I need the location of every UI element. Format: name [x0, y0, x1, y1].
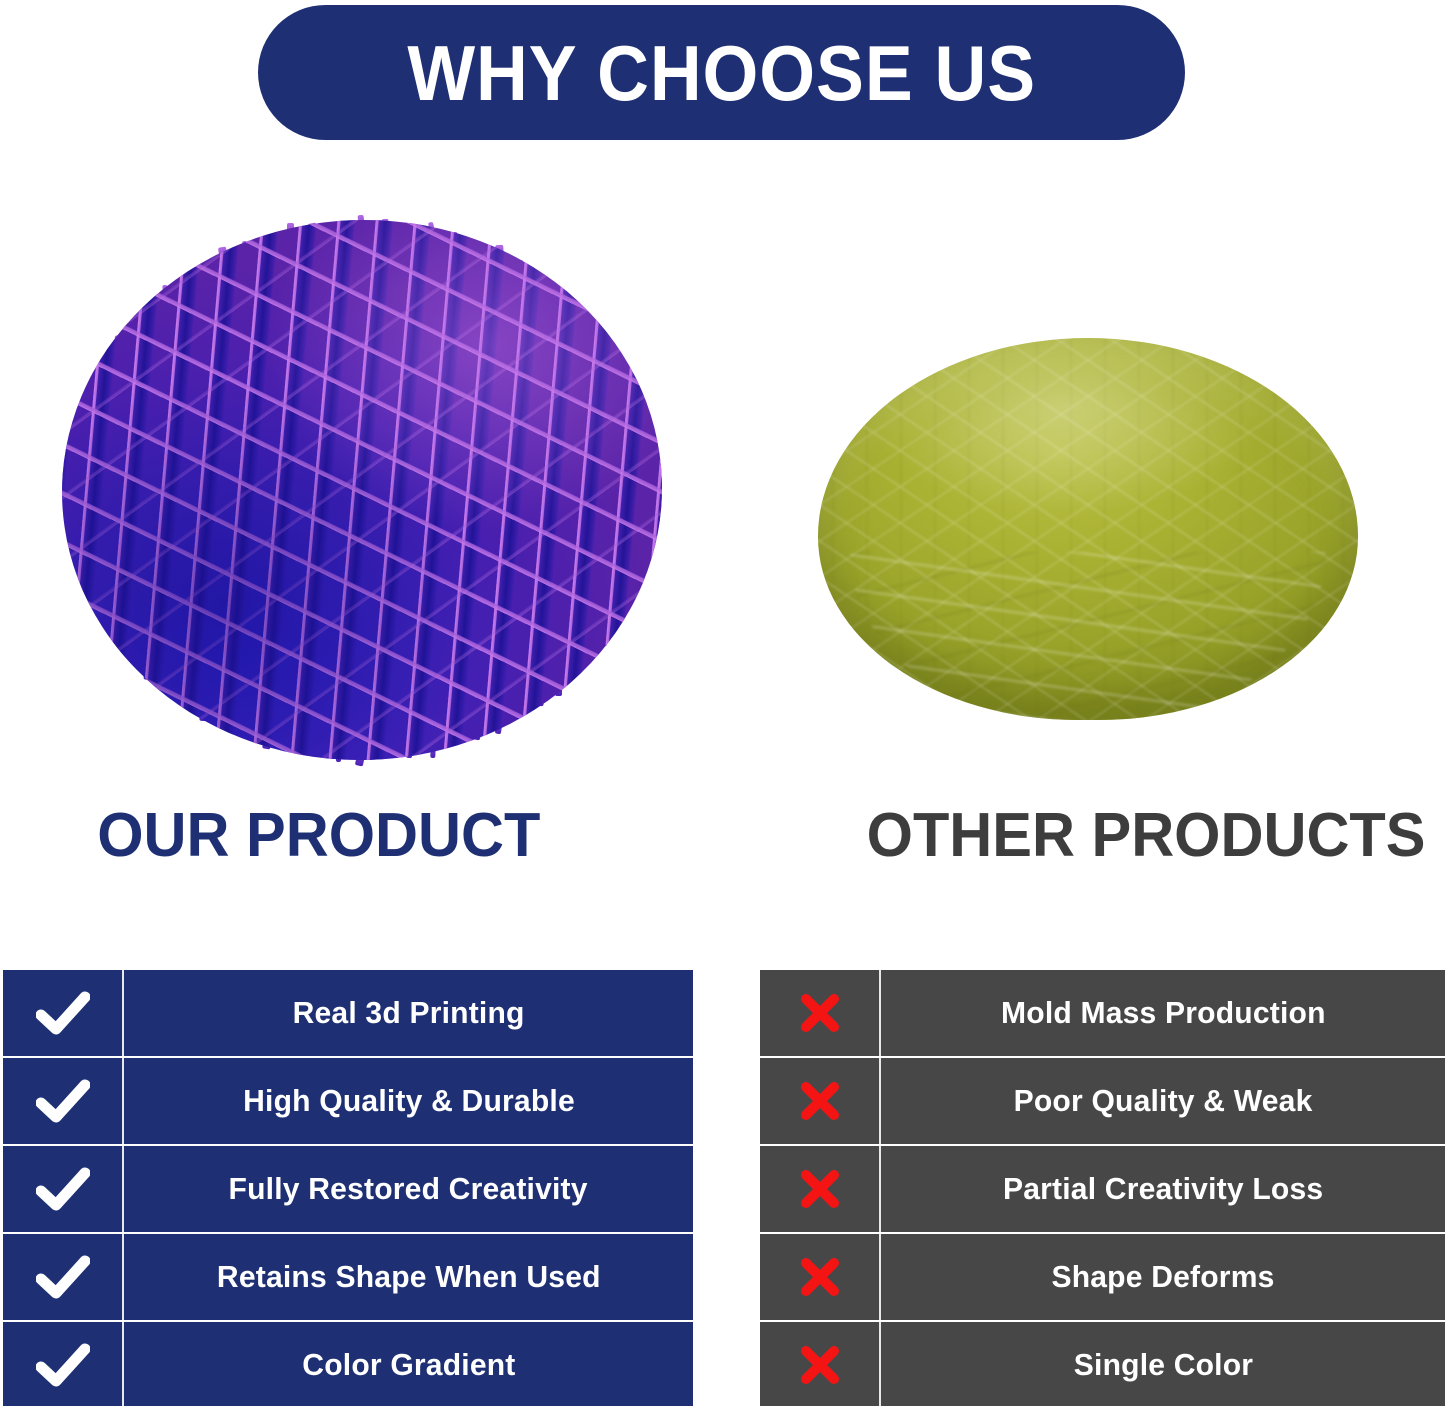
table-row: Mold Mass Production: [760, 970, 1445, 1056]
our-product-caption: OUR PRODUCT: [97, 805, 540, 867]
check-icon-cell: [3, 1234, 124, 1320]
feature-label-cell: Partial Creativity Loss: [881, 1146, 1445, 1232]
check-icon-cell: [3, 1322, 124, 1406]
lattice-disc: [53, 210, 671, 771]
table-row: Fully Restored Creativity: [3, 1146, 693, 1232]
check-icon: [36, 1254, 90, 1300]
olive-gloss-highlight: [818, 338, 1358, 720]
feature-label: Single Color: [1073, 1347, 1252, 1383]
check-icon-cell: [3, 970, 124, 1056]
feature-label-cell: Real 3d Printing: [124, 970, 693, 1056]
olive-disc: [818, 338, 1358, 720]
cross-icon-cell: [760, 1058, 881, 1144]
other-product-caption: OTHER PRODUCTS: [867, 805, 1426, 867]
page-title: WHY CHOOSE US: [407, 34, 1036, 112]
feature-label: Real 3d Printing: [292, 995, 524, 1031]
header-banner: WHY CHOOSE US: [258, 5, 1185, 140]
feature-label-cell: Poor Quality & Weak: [881, 1058, 1445, 1144]
cross-icon-cell: [760, 1146, 881, 1232]
check-icon: [36, 1078, 90, 1124]
table-row: Shape Deforms: [760, 1234, 1445, 1320]
other-product-feature-table: Mold Mass ProductionPoor Quality & WeakP…: [760, 970, 1445, 1406]
feature-label-cell: Mold Mass Production: [881, 970, 1445, 1056]
table-row: Poor Quality & Weak: [760, 1058, 1445, 1144]
table-row: Partial Creativity Loss: [760, 1146, 1445, 1232]
cross-icon: [799, 1080, 841, 1122]
feature-label: Retains Shape When Used: [217, 1259, 601, 1295]
cross-icon-cell: [760, 1322, 881, 1406]
cross-icon: [799, 992, 841, 1034]
cross-icon-cell: [760, 1234, 881, 1320]
feature-label: Partial Creativity Loss: [1003, 1171, 1323, 1207]
cross-icon: [799, 1168, 841, 1210]
our-product-feature-table: Real 3d PrintingHigh Quality & DurableFu…: [3, 970, 693, 1406]
feature-label: High Quality & Durable: [243, 1083, 575, 1119]
feature-label-cell: High Quality & Durable: [124, 1058, 693, 1144]
check-icon-cell: [3, 1058, 124, 1144]
feature-label-cell: Color Gradient: [124, 1322, 693, 1406]
check-icon: [36, 990, 90, 1036]
check-icon-cell: [3, 1146, 124, 1232]
feature-label: Shape Deforms: [1051, 1259, 1274, 1295]
table-row: Single Color: [760, 1322, 1445, 1406]
feature-label-cell: Single Color: [881, 1322, 1445, 1406]
our-product-cell: [0, 170, 720, 810]
feature-label-cell: Fully Restored Creativity: [124, 1146, 693, 1232]
check-icon: [36, 1166, 90, 1212]
feature-label: Poor Quality & Weak: [1014, 1083, 1313, 1119]
table-row: Retains Shape When Used: [3, 1234, 693, 1320]
feature-label-cell: Shape Deforms: [881, 1234, 1445, 1320]
other-product-cell: [720, 170, 1445, 810]
feature-label: Mold Mass Production: [1001, 995, 1326, 1031]
feature-label-cell: Retains Shape When Used: [124, 1234, 693, 1320]
feature-label: Color Gradient: [302, 1347, 515, 1383]
our-product-image: [62, 220, 662, 760]
cross-icon-cell: [760, 970, 881, 1056]
table-row: Real 3d Printing: [3, 970, 693, 1056]
product-images-row: [0, 170, 1445, 810]
other-product-image: [818, 338, 1358, 720]
cross-icon: [799, 1344, 841, 1386]
table-row: Color Gradient: [3, 1322, 693, 1406]
table-row: High Quality & Durable: [3, 1058, 693, 1144]
check-icon: [36, 1342, 90, 1388]
comparison-infographic: WHY CHOOSE US: [0, 0, 1445, 1406]
lattice-shading: [53, 210, 671, 771]
feature-label: Fully Restored Creativity: [229, 1171, 588, 1207]
cross-icon: [799, 1256, 841, 1298]
